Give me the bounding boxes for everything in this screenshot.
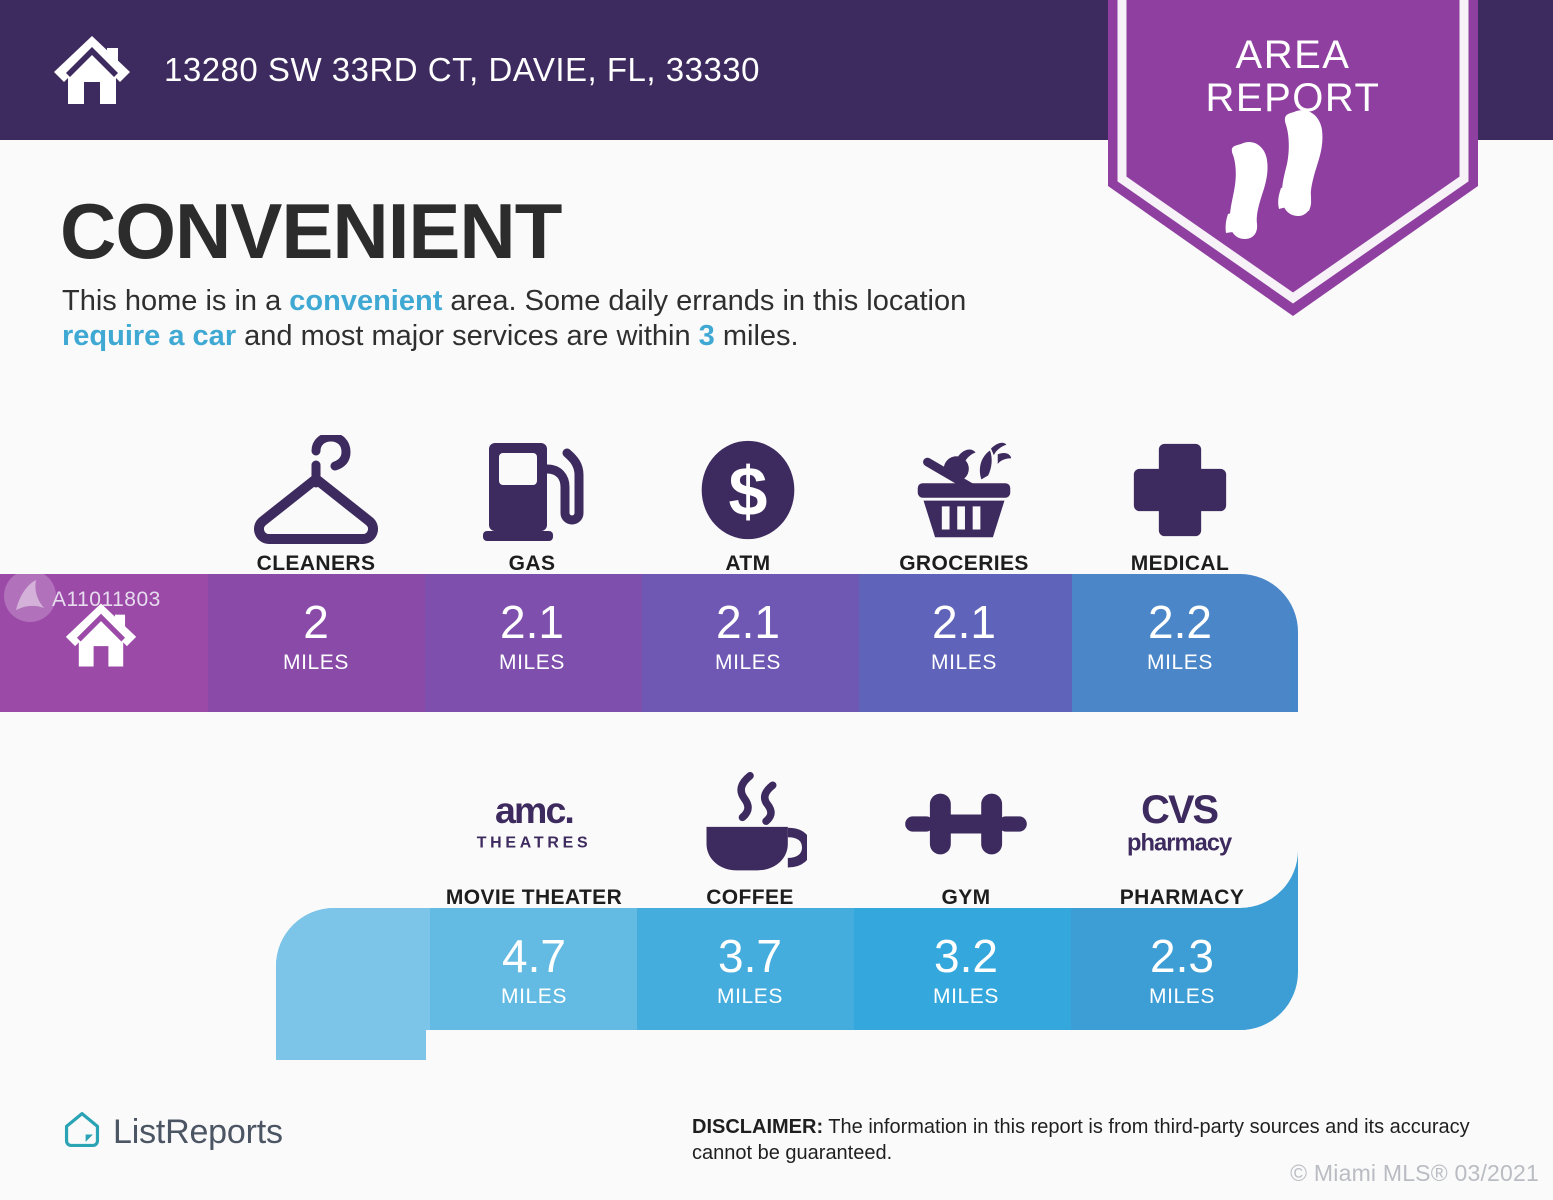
distance-value: 2.1 — [500, 599, 564, 645]
area-report-badge: AREA REPORT — [1108, 0, 1478, 316]
area-report-page: 13280 SW 33RD CT, DAVIE, FL, 33330 AREA … — [0, 0, 1553, 1200]
listreports-house-icon — [62, 1110, 102, 1155]
distance-value: 2.1 — [716, 599, 780, 645]
home-icon — [52, 34, 132, 106]
badge-line-1: AREA — [1108, 34, 1478, 77]
distance-unit: MILES — [1149, 985, 1215, 1009]
distance-unit: MILES — [717, 985, 783, 1009]
amenity-cleaners: CLEANERS — [208, 418, 424, 576]
property-address: 13280 SW 33RD CT, DAVIE, FL, 33330 — [164, 51, 760, 89]
medical-cross-icon — [1130, 434, 1230, 546]
page-title: CONVENIENT — [60, 186, 561, 277]
desc-highlight-miles: 3 — [699, 320, 715, 352]
distance-unit: MILES — [283, 651, 349, 675]
desc-text-4: miles. — [715, 320, 799, 352]
disclaimer-label: DISCLAIMER: — [692, 1116, 823, 1138]
distance-unit: MILES — [1147, 651, 1213, 675]
distance-unit: MILES — [499, 651, 565, 675]
distance-values-row-2: 4.7 MILES 3.7 MILES 3.2 MILES 2.3 MILES — [426, 912, 1290, 1030]
distance-cell-movie-theater: 4.7 MILES — [426, 912, 642, 1030]
desc-highlight-require-a-car: require a car — [62, 320, 236, 352]
listreports-logo: ListReports — [62, 1110, 283, 1155]
distance-cell-medical: 2.2 MILES — [1072, 578, 1288, 696]
distance-cell-gym: 3.2 MILES — [858, 912, 1074, 1030]
hanger-icon — [251, 434, 381, 546]
distance-unit: MILES — [931, 651, 997, 675]
grocery-basket-icon — [906, 434, 1022, 546]
badge-title: AREA REPORT — [1108, 34, 1478, 120]
badge-line-2: REPORT — [1108, 77, 1478, 120]
distance-cell-pharmacy: 2.3 MILES — [1074, 912, 1290, 1030]
distance-value: 2 — [303, 599, 329, 645]
listreports-logo-text: ListReports — [113, 1113, 283, 1152]
distance-value: 3.7 — [718, 933, 782, 979]
svg-text:$: $ — [729, 453, 768, 531]
disclaimer-text: DISCLAIMER: The information in this repo… — [692, 1114, 1492, 1167]
desc-text-3: and most major services are within — [236, 320, 699, 352]
distance-value: 2.3 — [1150, 933, 1214, 979]
distance-value: 2.1 — [932, 599, 996, 645]
desc-text-2: area. Some daily errands in this locatio… — [442, 285, 966, 317]
gas-pump-icon — [477, 434, 587, 546]
mls-watermark-id: A11011803 — [52, 588, 161, 612]
distance-cell-cleaners: 2 MILES — [208, 578, 424, 696]
desc-text-1: This home is in a — [62, 285, 289, 317]
desc-highlight-convenient: convenient — [289, 285, 442, 317]
distance-cell-groceries: 2.1 MILES — [856, 578, 1072, 696]
distance-value: 4.7 — [502, 933, 566, 979]
amenity-gas: GAS — [424, 418, 640, 576]
distance-unit: MILES — [933, 985, 999, 1009]
distance-unit: MILES — [715, 651, 781, 675]
amenity-medical: MEDICAL — [1072, 418, 1288, 576]
distance-cell-gas: 2.1 MILES — [424, 578, 640, 696]
distance-unit: MILES — [501, 985, 567, 1009]
distance-cell-coffee: 3.7 MILES — [642, 912, 858, 1030]
distance-value: 2.2 — [1148, 599, 1212, 645]
amenity-atm: $ ATM — [640, 418, 856, 576]
page-description: This home is in a convenient area. Some … — [62, 284, 1062, 355]
dollar-circle-icon: $ — [696, 434, 800, 546]
copyright-notice: © Miami MLS® 03/2021 — [1290, 1160, 1539, 1187]
distance-cell-atm: 2.1 MILES — [640, 578, 856, 696]
distance-values-row-1: 2 MILES 2.1 MILES 2.1 MILES 2.1 MILES 2.… — [208, 578, 1290, 696]
amenity-groceries: GROCERIES — [856, 418, 1072, 576]
amenity-icon-row-1: CLEANERS GAS $ ATM — [208, 418, 1290, 576]
distance-value: 3.2 — [934, 933, 998, 979]
